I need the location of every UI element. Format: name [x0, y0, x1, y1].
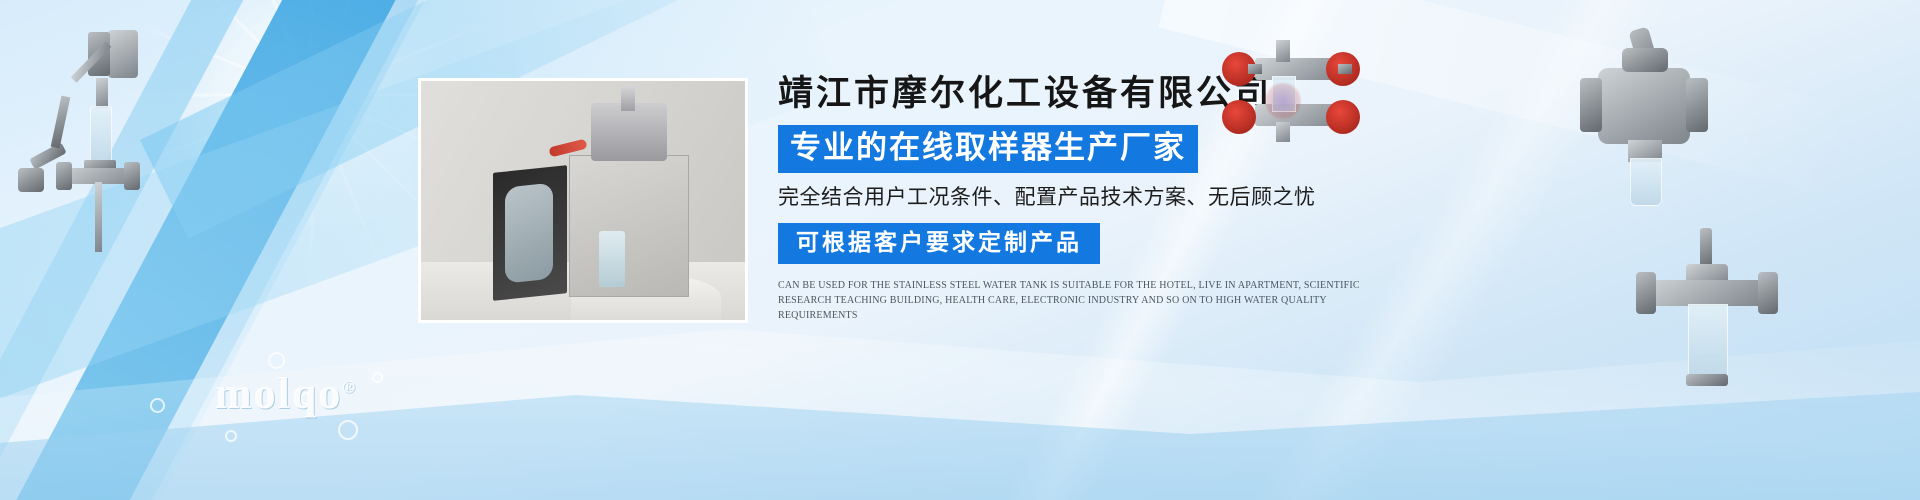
bubble-decoration	[372, 372, 383, 383]
english-description: Can be used for the stainless steel wate…	[778, 278, 1390, 323]
watermark-text: molqo	[215, 369, 342, 418]
headline-badge: 专业的在线取样器生产厂家	[778, 125, 1198, 173]
subtitle: 完全结合用户工况条件、配置产品技术方案、无后顾之忧	[778, 184, 1418, 212]
bubble-decoration	[338, 420, 358, 440]
bubble-decoration	[150, 398, 165, 413]
product-photo	[418, 78, 748, 323]
registered-mark-icon: ®	[342, 377, 357, 396]
watermark-logo: molqo®	[215, 368, 357, 419]
promo-banner: 靖江市摩尔化工设备有限公司 专业的在线取样器生产厂家 完全结合用户工况条件、配置…	[0, 0, 1920, 500]
bubble-decoration	[225, 430, 237, 442]
company-seal-icon	[1264, 82, 1302, 120]
bubble-decoration	[268, 352, 285, 369]
tagline-badge: 可根据客户要求定制产品	[778, 223, 1100, 264]
